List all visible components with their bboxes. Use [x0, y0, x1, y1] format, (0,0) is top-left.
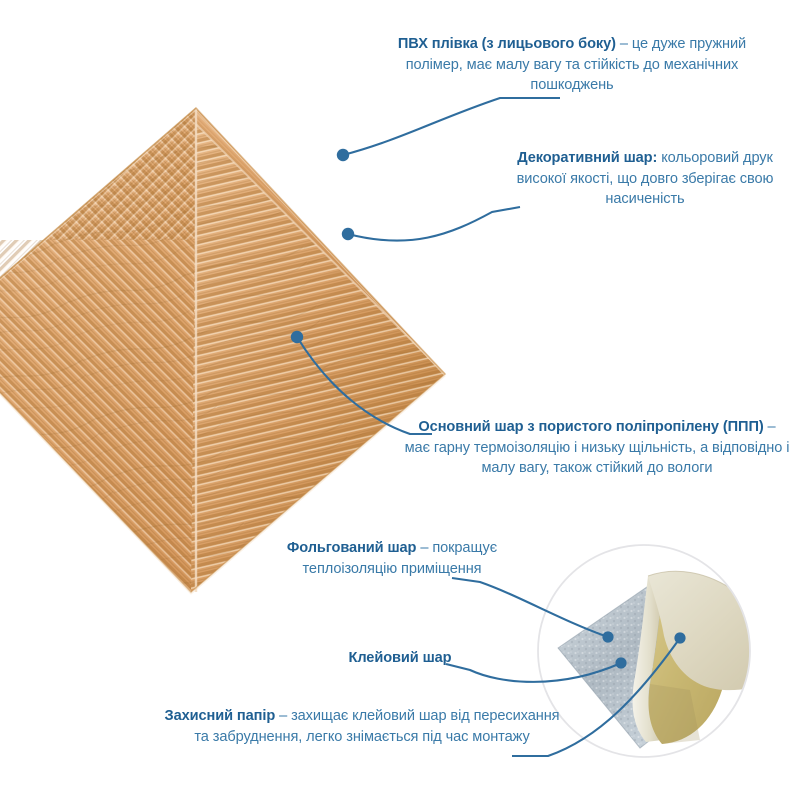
leader-foil: [452, 578, 608, 637]
marker-pvc: [337, 149, 349, 161]
callout-pvc-film-lead: ПВХ плівка (з лицьового боку): [398, 36, 616, 52]
callout-protective-paper-dash: –: [275, 708, 291, 724]
marker-paper: [674, 632, 685, 643]
callout-decorative-layer: Декоративний шар: кольоровий друк високо…: [500, 148, 790, 210]
callout-adhesive-layer-lead: Клейовий шар: [349, 650, 452, 666]
callout-core-layer: Основний шар з пористого поліпропілену (…: [404, 417, 790, 479]
callout-pvc-film: ПВХ плівка (з лицьового боку) – це дуже …: [372, 34, 772, 96]
foil-adhesive-paper-detail: [538, 545, 778, 757]
callout-decorative-layer-lead: Декоративний шар:: [517, 150, 657, 166]
callout-foil-layer-lead: Фольгований шар: [287, 540, 416, 556]
callout-core-layer-lead: Основний шар з пористого поліпропілену (…: [418, 419, 763, 435]
wood-3d-wall-panel: [0, 108, 445, 594]
callout-pvc-film-dash: –: [616, 36, 632, 52]
marker-decorative: [342, 228, 354, 240]
callout-foil-layer-dash: –: [416, 540, 432, 556]
callout-core-layer-dash: –: [764, 419, 776, 435]
marker-glue: [615, 657, 626, 668]
callout-protective-paper-lead: Захисний папір: [165, 708, 276, 724]
panel-body: [0, 108, 445, 592]
callout-foil-layer: Фольгований шар – покращує теплоізоляцію…: [278, 538, 506, 579]
callout-core-layer-body: має гарну термоізоляцію і низьку щільніс…: [405, 440, 790, 477]
callout-protective-paper: Захисний папір – захищає клейовий шар ві…: [164, 706, 560, 747]
illustration-layer: [0, 0, 800, 800]
marker-core: [291, 331, 303, 343]
leader-pvc: [343, 98, 560, 155]
callout-adhesive-layer: Клейовий шар: [302, 648, 498, 669]
marker-foil: [602, 631, 613, 642]
leader-decorative: [348, 207, 520, 241]
infographic-canvas: ПВХ плівка (з лицьового боку) – це дуже …: [0, 0, 800, 800]
